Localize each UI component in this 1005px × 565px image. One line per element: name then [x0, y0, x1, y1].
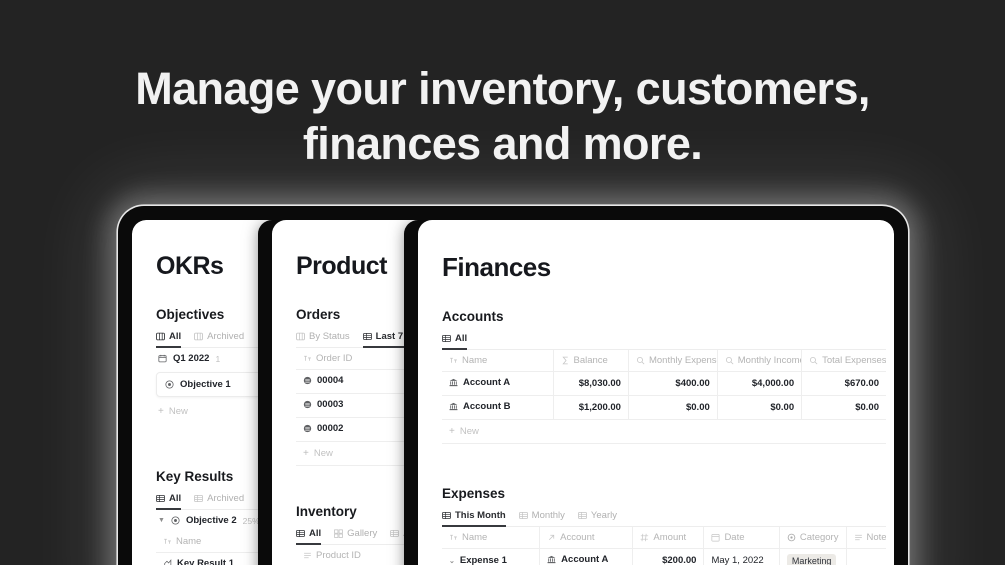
tab-expenses-yearly[interactable]: Yearly [578, 510, 617, 521]
column-header-name[interactable]: Name [442, 527, 540, 549]
progress-percent: 25% [243, 516, 260, 526]
view-tabs: All [442, 333, 886, 350]
tab-keyresults-all[interactable]: All [156, 493, 181, 504]
section-title: Accounts [442, 309, 886, 324]
order-icon [303, 400, 312, 409]
board-icon [156, 332, 165, 341]
title-icon [303, 354, 312, 363]
column-header-monthly-expenses[interactable]: Monthly Expenses [628, 350, 717, 372]
table-row[interactable]: ⌄Expense 1 Account A $200.00 May 1, 2022… [442, 549, 886, 565]
panel-finances[interactable]: Finances Accounts All Name [418, 220, 894, 565]
table-icon [442, 511, 451, 520]
rollup-icon [809, 356, 818, 365]
page-title-finances: Finances [442, 252, 886, 283]
tablet-screen: OKRs Objectives All Archived [132, 220, 894, 565]
accounts-table: Name Balance Monthly Expenses Monthly In… [442, 350, 886, 420]
tab-inventory-gallery[interactable]: Gallery [334, 528, 377, 539]
bank-icon [449, 402, 458, 411]
table-row[interactable]: Account A $8,030.00 $400.00 $4,000.00 $6… [442, 372, 886, 396]
expense-category-cell: Marketing [779, 549, 846, 565]
column-header-account[interactable]: Account [540, 527, 633, 549]
balance-cell: $8,030.00 [553, 372, 628, 396]
target-icon [165, 380, 174, 389]
chart-icon [163, 559, 172, 565]
rollup-icon [636, 356, 645, 365]
column-header-category[interactable]: Category [779, 527, 846, 549]
column-header-balance[interactable]: Balance [553, 350, 628, 372]
tablet-device-frame: OKRs Objectives All Archived [118, 206, 908, 565]
expense-amount-cell: $200.00 [633, 549, 704, 565]
tab-expenses-monthly[interactable]: Monthly [519, 510, 565, 521]
title-icon [449, 356, 458, 365]
expense-notes-cell [846, 549, 886, 565]
expense-name-cell: ⌄Expense 1 [442, 549, 540, 565]
calendar-icon [158, 354, 167, 363]
tab-accounts-all[interactable]: All [442, 333, 467, 344]
tab-objectives-archived[interactable]: Archived [194, 331, 244, 342]
view-tabs: This Month Monthly Yearly [442, 510, 886, 527]
tab-keyresults-archived[interactable]: Archived [194, 493, 244, 504]
promo-screenshot: Manage your inventory, customers, financ… [0, 0, 1005, 565]
order-icon [303, 376, 312, 385]
column-header-date[interactable]: Date [704, 527, 779, 549]
bank-icon [449, 378, 458, 387]
date-icon [711, 533, 720, 542]
new-account-button[interactable]: + New [442, 420, 886, 444]
tab-label: All [169, 493, 181, 504]
page-headline: Manage your inventory, customers, financ… [0, 66, 1005, 166]
account-name-cell: Account A [442, 372, 553, 396]
tab-label: This Month [455, 510, 506, 521]
table-icon [578, 511, 587, 520]
order-id-cell: 00003 [296, 394, 412, 418]
table-icon [194, 494, 203, 503]
table-icon [442, 334, 451, 343]
balance-cell: $1,200.00 [553, 396, 628, 420]
order-icon [303, 424, 312, 433]
group-label: Objective 2 [186, 515, 237, 526]
chevron-down-icon[interactable]: ▼ [158, 517, 165, 524]
text-icon [303, 551, 312, 560]
column-header-name[interactable]: Name [442, 350, 553, 372]
table-icon [390, 529, 399, 538]
target-icon [171, 516, 180, 525]
new-label: New [314, 448, 333, 459]
text-icon [854, 533, 863, 542]
board-icon [194, 332, 203, 341]
plus-icon: + [449, 426, 455, 437]
column-header-notes[interactable]: Notes [846, 527, 886, 549]
section-title: Expenses [442, 486, 886, 501]
account-name-cell: Account B [442, 396, 553, 420]
table-icon [296, 529, 305, 538]
sigma-icon [561, 356, 570, 365]
tab-label: Monthly [532, 510, 565, 521]
table-row[interactable]: Account B $1,200.00 $0.00 $0.00 $0.00 [442, 396, 886, 420]
tab-label: All [309, 528, 321, 539]
tab-label: All [169, 331, 181, 342]
expense-account-cell: Account A [540, 549, 633, 565]
expenses-table: Name Account Amount Date Category Notes … [442, 527, 886, 565]
table-icon [519, 511, 528, 520]
tab-label: All [455, 333, 467, 344]
select-icon [787, 533, 796, 542]
new-label: New [169, 406, 188, 417]
table-icon [156, 494, 165, 503]
monthly-incomes-cell: $0.00 [717, 396, 801, 420]
chevron-down-icon[interactable]: ⌄ [449, 557, 455, 565]
gallery-icon [334, 529, 343, 538]
tab-label: Archived [207, 331, 244, 342]
monthly-incomes-cell: $4,000.00 [717, 372, 801, 396]
board-icon [296, 332, 305, 341]
column-header-order-id[interactable]: Order ID [296, 348, 412, 370]
section-expenses: Expenses This Month Monthly [442, 486, 886, 565]
section-accounts: Accounts All Name Balance [442, 309, 886, 444]
plus-icon: + [303, 448, 309, 459]
total-expenses-cell: $0.00 [802, 396, 886, 420]
tab-label: Yearly [591, 510, 617, 521]
plus-icon: + [158, 406, 164, 417]
column-header-monthly-incomes[interactable]: Monthly Incomes [717, 350, 801, 372]
rollup-icon [725, 356, 734, 365]
order-id-cell: 00004 [296, 370, 412, 394]
objective-label: Objective 1 [180, 379, 231, 390]
tab-label: Archived [207, 493, 244, 504]
monthly-expenses-cell: $0.00 [628, 396, 717, 420]
total-expenses-cell: $670.00 [802, 372, 886, 396]
headline-line-1: Manage your inventory, customers, [135, 63, 870, 114]
column-header-amount[interactable]: Amount [633, 527, 704, 549]
order-id-cell: 00002 [296, 418, 412, 442]
tab-label: By Status [309, 331, 350, 342]
tab-objectives-all[interactable]: All [156, 331, 181, 342]
number-icon [640, 533, 649, 542]
tab-orders-by-status[interactable]: By Status [296, 331, 350, 342]
tab-label: Gallery [347, 528, 377, 539]
headline-line-2: finances and more. [0, 121, 1005, 166]
group-label: Q1 2022 [173, 353, 209, 364]
table-icon [363, 332, 372, 341]
title-icon [449, 533, 458, 542]
monthly-expenses-cell: $400.00 [628, 372, 717, 396]
title-icon [163, 537, 172, 546]
bank-icon [547, 555, 556, 564]
relation-icon [547, 533, 556, 542]
column-header-total-expenses[interactable]: Total Expenses [802, 350, 886, 372]
status-badge: Marketing [787, 554, 837, 565]
group-count: 1 [215, 354, 220, 364]
column-header-product-id[interactable]: Product ID [296, 545, 412, 565]
tab-expenses-this-month[interactable]: This Month [442, 510, 506, 521]
new-label: New [460, 426, 479, 437]
tab-inventory-all[interactable]: All [296, 528, 321, 539]
expense-date-cell: May 1, 2022 [704, 549, 779, 565]
